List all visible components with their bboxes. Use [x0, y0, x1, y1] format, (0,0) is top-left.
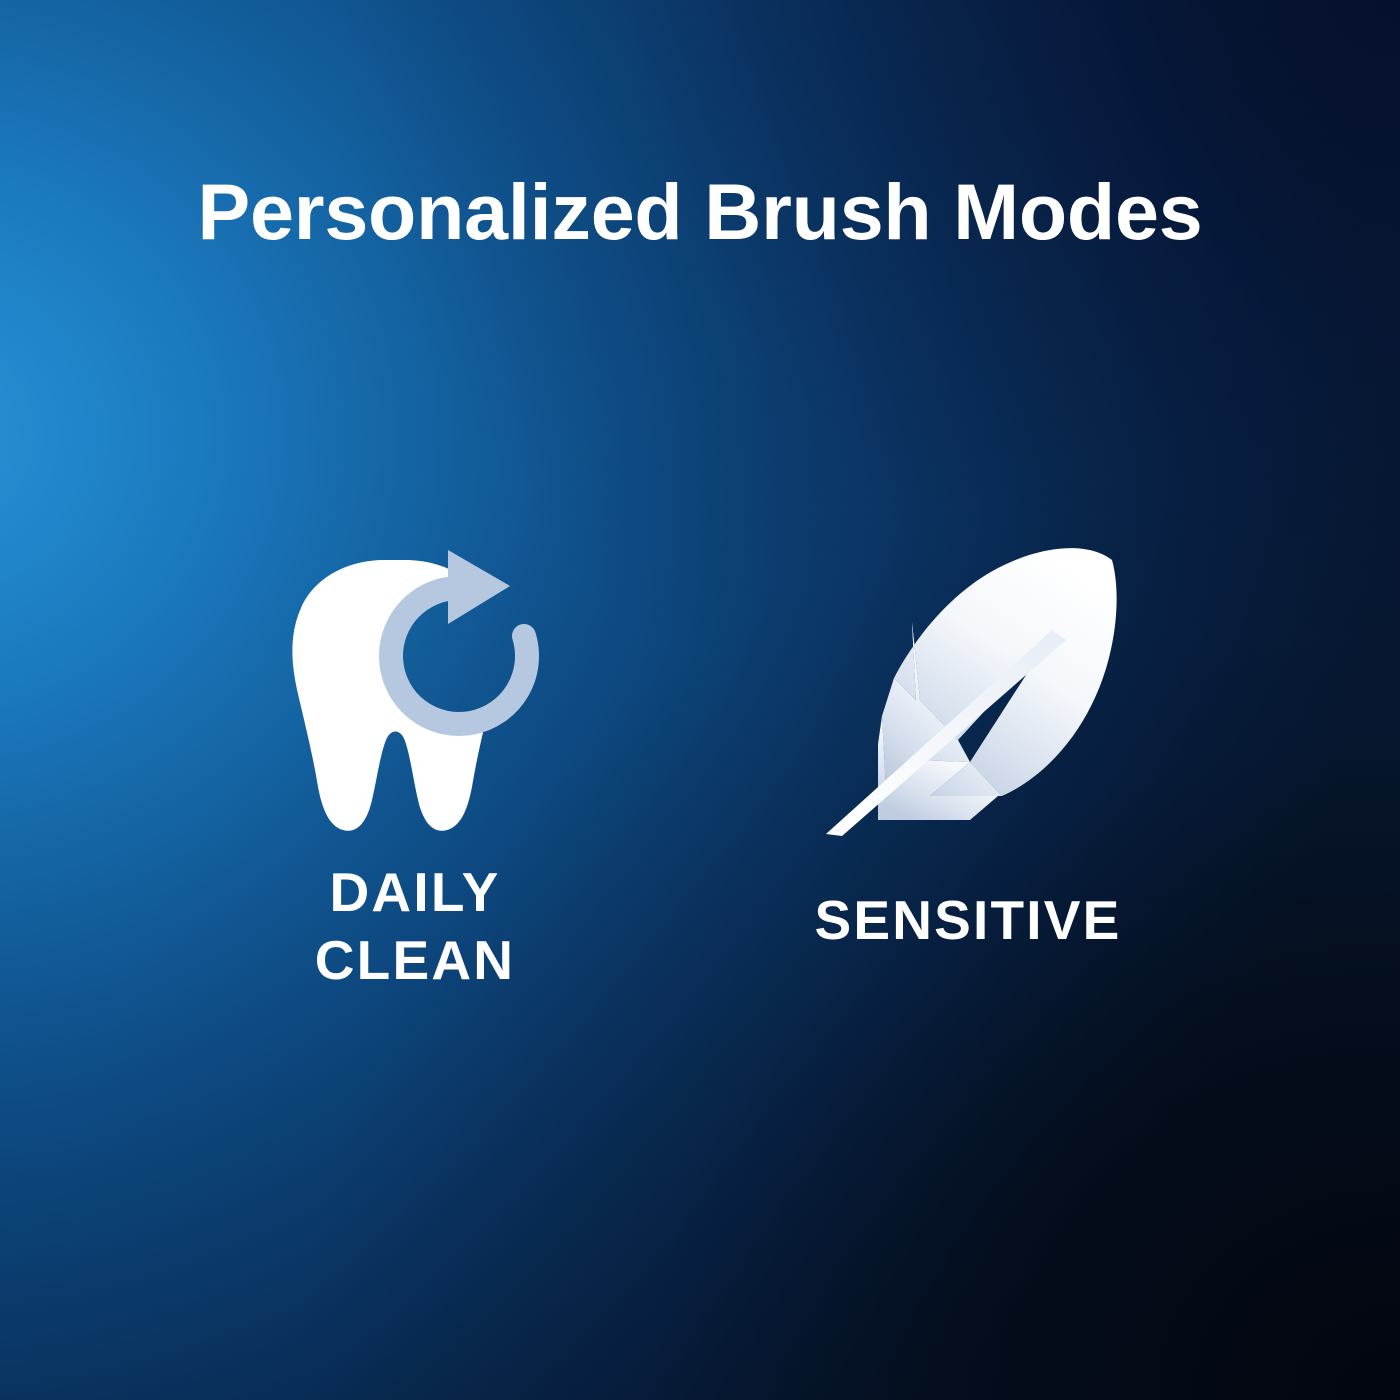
daily-clean-label-line-1: DAILY [205, 858, 625, 926]
brush-modes-list: DAILY CLEAN [0, 530, 1400, 1010]
sensitive-label-line-1: SENSITIVE [758, 886, 1178, 954]
feather-icon [820, 544, 1120, 840]
sensitive-label: SENSITIVE [758, 886, 1178, 954]
tooth-rotation-icon [273, 538, 543, 838]
daily-clean-label: DAILY CLEAN [205, 858, 625, 994]
brush-mode-sensitive[interactable]: SENSITIVE [758, 530, 1178, 1010]
page-title: Personalized Brush Modes [0, 172, 1400, 251]
daily-clean-label-line-2: CLEAN [205, 926, 625, 994]
daily-clean-icon-box [205, 530, 625, 850]
brush-mode-daily-clean[interactable]: DAILY CLEAN [205, 530, 625, 1010]
brush-modes-panel: Personalized Brush Modes [0, 0, 1400, 1400]
sensitive-icon-box [758, 530, 1178, 850]
